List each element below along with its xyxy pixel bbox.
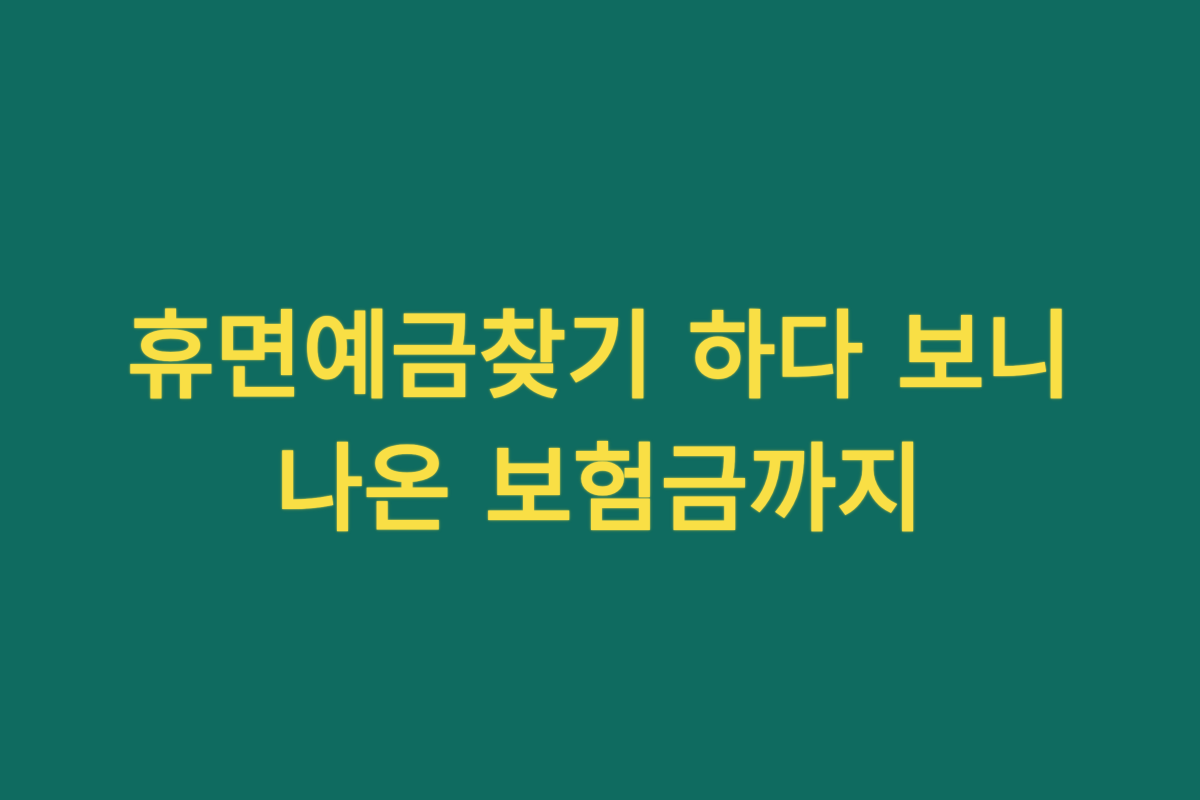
headline-line-1: 휴면예금찾기 하다 보니: [127, 310, 1073, 405]
thumbnail-canvas: 휴면예금찾기 하다 보니 나온 보험금까지: [0, 0, 1200, 800]
headline-block: 휴면예금찾기 하다 보니 나온 보험금까지: [0, 310, 1200, 538]
headline-line-2: 나온 보험금까지: [276, 443, 925, 538]
